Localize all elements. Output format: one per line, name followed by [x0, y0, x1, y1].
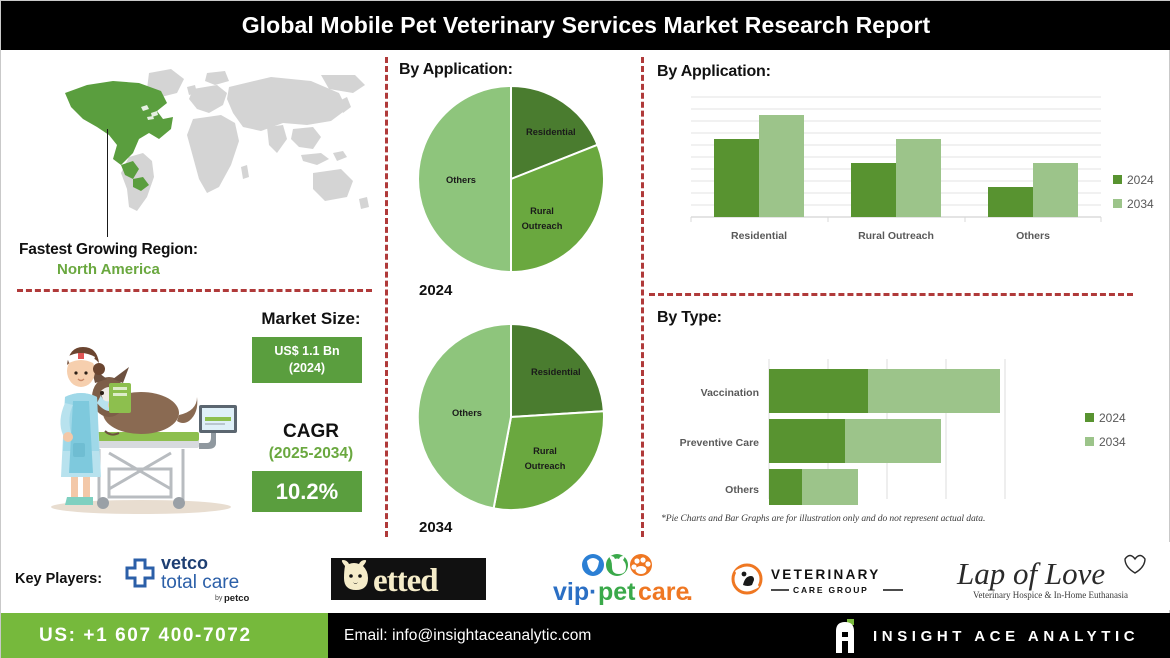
hbar-preventive-2034	[845, 419, 941, 463]
column-cat-others: Others	[1016, 230, 1050, 242]
bar-chart-title: By Type:	[657, 309, 722, 327]
pie-label-residential-2034: Residential	[531, 367, 581, 377]
footer-bar: US: +1 607 400-7072 Email: info@insighta…	[1, 613, 1170, 658]
svg-text:·: ·	[589, 578, 597, 605]
world-map	[21, 61, 371, 221]
market-size-title: Market Size:	[241, 309, 381, 329]
column-legend-swatch-2034	[1113, 199, 1122, 208]
svg-text:etted: etted	[373, 563, 438, 599]
pie-label-rural-2024: Rural	[530, 206, 554, 216]
cagr-years: (2025-2034)	[241, 445, 381, 463]
pie-year-2034: 2034	[419, 519, 452, 536]
bar-rural-2034	[896, 139, 941, 217]
fastest-growing-region: Fastest Growing Region: North America	[19, 241, 369, 278]
hbar-others-2034	[802, 469, 858, 505]
cagr-title: CAGR	[241, 421, 381, 443]
pie-label-outreach-2034: Outreach	[525, 461, 566, 471]
hbar-cat-preventive-care: Preventive Care	[680, 437, 760, 449]
column-legend-label-2024: 2024	[1127, 173, 1154, 187]
pie-section-title-2024: By Application:	[399, 61, 513, 79]
map-pointer-line	[107, 129, 108, 237]
svg-text:care: care	[638, 578, 690, 605]
infographic-page: Global Mobile Pet Veterinary Services Ma…	[0, 0, 1170, 658]
svg-text:vip: vip	[553, 578, 589, 605]
column-chart: Residential Rural Outreach Others 2024 2…	[649, 89, 1159, 249]
column-cat-rural-outreach: Rural Outreach	[858, 230, 934, 242]
region-label: Fastest Growing Region:	[19, 241, 369, 259]
pie-label-outreach-2024: Outreach	[522, 221, 563, 231]
hbar-legend-label-2034: 2034	[1099, 435, 1126, 449]
svg-text:pet: pet	[598, 578, 636, 605]
column-cat-residential: Residential	[731, 230, 787, 242]
hbar-vaccination-2034	[868, 369, 1000, 413]
column-legend-swatch-2024	[1113, 175, 1122, 184]
divider-horizontal-right	[649, 293, 1133, 296]
logo-veterinary-care-group[interactable]: VETERINARY CARE GROUP	[731, 563, 921, 597]
hbar-legend-label-2024: 2024	[1099, 411, 1126, 425]
svg-text:Veterinary Hospice & In-Home E: Veterinary Hospice & In-Home Euthanasia	[973, 590, 1128, 600]
footer-dark-block: Email: info@insightaceanalytic.com INSIG…	[328, 613, 1170, 658]
brand-name: INSIGHT ACE ANALYTIC	[873, 628, 1139, 645]
cagr-value: 10.2%	[276, 479, 338, 505]
chart-footnote: *Pie Charts and Bar Graphs are for illus…	[661, 513, 985, 524]
logo-lap-of-love[interactable]: Lap of Love Veterinary Hospice & In-Home…	[951, 551, 1151, 603]
hbar-others-2024	[769, 469, 802, 505]
pie-chart-2024: Residential Rural Outreach Others	[399, 85, 623, 273]
bar-residential-2034	[759, 115, 804, 217]
logo-vetco-total-care[interactable]: vetco total care by petco	[123, 552, 278, 604]
market-size-value: US$ 1.1 Bn	[274, 343, 339, 360]
hbar-legend-swatch-2024	[1085, 413, 1094, 422]
insight-ace-logo-icon	[833, 619, 859, 653]
svg-text:by: by	[215, 595, 223, 602]
svg-text:vetco: vetco	[161, 553, 208, 573]
svg-text:VETERINARY: VETERINARY	[771, 567, 881, 582]
header-bar: Global Mobile Pet Veterinary Services Ma…	[1, 1, 1170, 50]
logo-vetted[interactable]: etted	[331, 558, 486, 600]
footer-email: Email: info@insightaceanalytic.com	[328, 627, 591, 645]
logo-vip-petcare[interactable]: vip · pet care .	[551, 551, 701, 605]
brand-lockup: INSIGHT ACE ANALYTIC	[833, 613, 1139, 658]
market-size-year: (2024)	[289, 360, 325, 377]
footer-phone-block: US: +1 607 400-7072	[1, 613, 328, 658]
column-chart-title: By Application:	[657, 63, 771, 81]
svg-text:petco: petco	[224, 593, 250, 604]
bar-others-2024	[988, 187, 1033, 217]
bar-rural-2024	[851, 163, 896, 217]
footer-phone: US: +1 607 400-7072	[1, 625, 252, 647]
hbar-vaccination-2024	[769, 369, 868, 413]
svg-text:CARE GROUP: CARE GROUP	[793, 585, 869, 595]
column-legend-label-2034: 2034	[1127, 197, 1154, 211]
hbar-cat-vaccination: Vaccination	[701, 387, 759, 399]
divider-vertical-right	[641, 57, 644, 537]
horizontal-bar-chart: Vaccination Preventive Care Others 2024 …	[649, 351, 1159, 511]
vet-illustration	[31, 331, 251, 521]
pie-label-others-2034: Others	[452, 408, 482, 418]
page-title: Global Mobile Pet Veterinary Services Ma…	[242, 12, 931, 39]
hbar-legend-swatch-2034	[1085, 437, 1094, 446]
pie-label-others-2024: Others	[446, 175, 476, 185]
divider-horizontal-left	[17, 289, 372, 292]
svg-text:.: .	[686, 578, 693, 605]
region-value: North America	[19, 261, 369, 278]
divider-vertical-left	[385, 57, 388, 537]
key-players-label: Key Players:	[15, 571, 102, 587]
bar-others-2034	[1033, 163, 1078, 217]
svg-text:Lap of Love: Lap of Love	[956, 556, 1105, 591]
hbar-cat-others: Others	[725, 484, 759, 496]
svg-text:total care: total care	[161, 572, 239, 593]
pie-label-rural-2034: Rural	[533, 446, 557, 456]
hbar-preventive-2024	[769, 419, 845, 463]
pie-chart-2034: Residential Rural Outreach Others	[399, 323, 623, 511]
market-size-box: US$ 1.1 Bn (2024)	[252, 337, 362, 383]
bar-residential-2024	[714, 139, 759, 217]
pie-year-2024: 2024	[419, 282, 452, 299]
pie-label-residential-2024: Residential	[526, 127, 576, 137]
cagr-box: 10.2%	[252, 471, 362, 512]
